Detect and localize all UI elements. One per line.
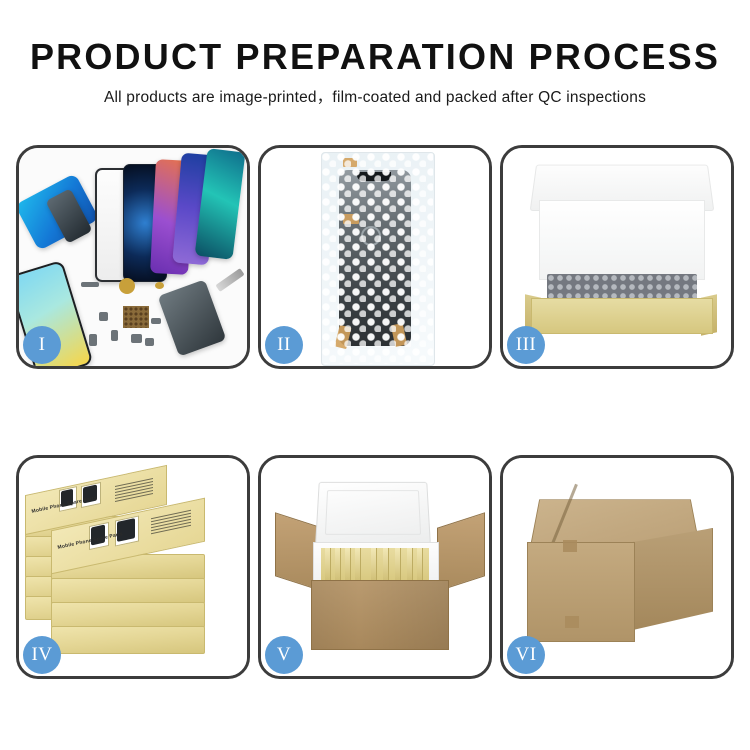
product-preparation-page: PRODUCT PREPARATION PROCESS All products… xyxy=(0,0,750,750)
gold-contact xyxy=(155,282,164,289)
small-part-d xyxy=(151,318,161,324)
stacked-box-f4 xyxy=(51,626,205,654)
carton-body xyxy=(311,580,449,650)
small-part-f xyxy=(145,338,154,346)
small-part-bar xyxy=(81,282,99,287)
repair-tweezers xyxy=(215,268,244,292)
bubble-texture xyxy=(321,152,433,364)
box-back-wall xyxy=(539,200,705,280)
foam-box-lid xyxy=(315,482,431,544)
speaker-part xyxy=(119,278,135,294)
step-badge-6: VI xyxy=(507,636,545,674)
box-front-panel xyxy=(531,298,713,334)
process-step-panel-1: I xyxy=(16,145,250,369)
step-badge-1: I xyxy=(23,326,61,364)
page-header: PRODUCT PREPARATION PROCESS All products… xyxy=(0,0,750,107)
carton-side-face xyxy=(633,528,713,630)
carton-tape-upper xyxy=(563,540,577,552)
small-part-c xyxy=(131,334,142,343)
process-step-panel-4: Mobile Phone Spare Parts Mobile Phone Sp… xyxy=(16,455,250,679)
step-badge-4: IV xyxy=(23,636,61,674)
page-subtitle: All products are image-printed，film-coat… xyxy=(0,85,750,107)
connector-chip xyxy=(123,306,149,328)
page-title: PRODUCT PREPARATION PROCESS xyxy=(0,38,750,76)
process-step-panel-3: III xyxy=(500,145,734,369)
step-badge-5: V xyxy=(265,636,303,674)
small-part-b xyxy=(111,330,118,341)
process-step-panel-2: II xyxy=(258,145,492,369)
process-step-panel-6: VI xyxy=(500,455,734,679)
stacked-box-f2 xyxy=(51,578,205,604)
phone-back-housing xyxy=(158,279,227,356)
small-part-a xyxy=(99,312,108,321)
step-badge-3: III xyxy=(507,326,545,364)
carton-tape-lower xyxy=(565,616,579,628)
packed-yellow-boxes xyxy=(321,548,429,582)
process-step-grid: I II xyxy=(16,145,734,679)
small-part-e xyxy=(89,334,97,346)
box-screen-front-b xyxy=(117,518,135,542)
process-step-panel-5: V xyxy=(258,455,492,679)
step-badge-2: II xyxy=(265,326,303,364)
carton-front-face xyxy=(527,542,635,642)
stacked-box-f3 xyxy=(51,602,205,628)
